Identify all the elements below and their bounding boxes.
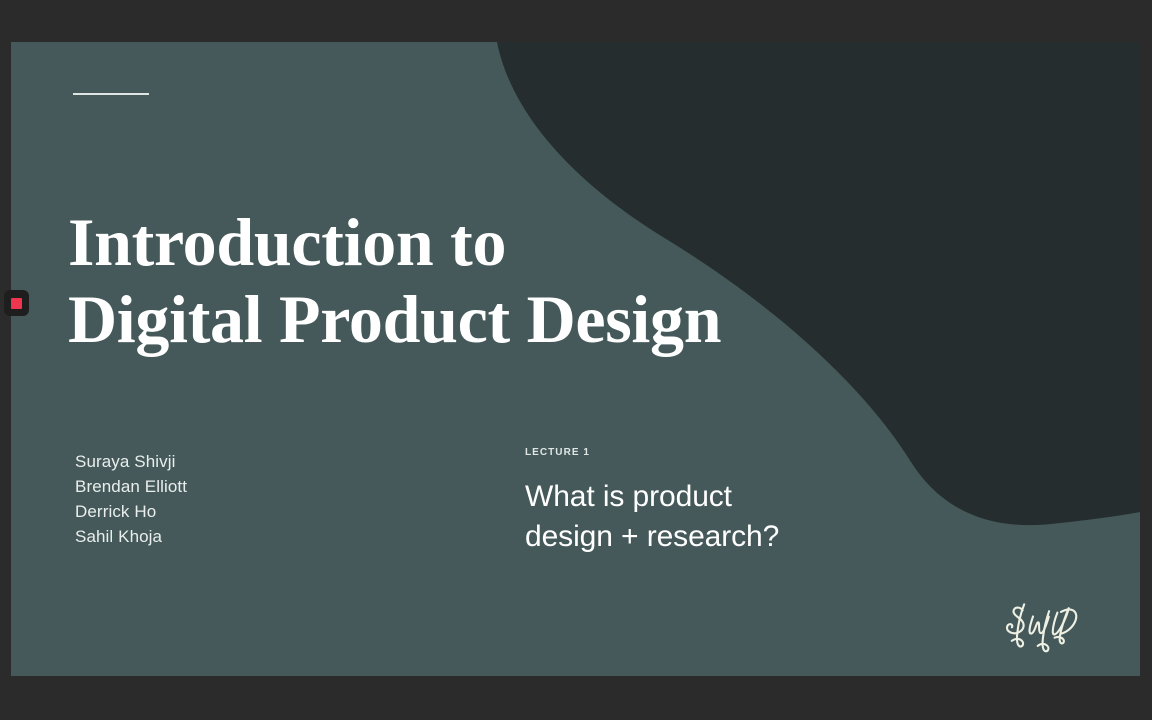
lecture-block: LECTURE 1 What is product design + resea… <box>525 447 855 557</box>
list-item: Derrick Ho <box>75 499 187 524</box>
presentation-viewer: Introduction to Digital Product Design S… <box>0 0 1152 720</box>
slide-title: Introduction to Digital Product Design <box>68 204 868 358</box>
slide-selection-indicator[interactable] <box>4 290 29 316</box>
swd-script-logo-icon <box>999 598 1091 660</box>
color-swatch-icon <box>11 298 22 309</box>
lecture-heading-line-2: design + research? <box>525 517 855 557</box>
slide-title-line-2: Digital Product Design <box>68 281 868 358</box>
accent-rule <box>73 93 149 95</box>
lecture-number-label: LECTURE 1 <box>525 447 855 458</box>
lecture-heading-line-1: What is product <box>525 477 855 517</box>
decorative-wave-shape <box>11 42 1140 676</box>
lecture-heading: What is product design + research? <box>525 477 855 557</box>
list-item: Brendan Elliott <box>75 474 187 499</box>
author-list: Suraya Shivji Brendan Elliott Derrick Ho… <box>75 449 187 549</box>
list-item: Suraya Shivji <box>75 449 187 474</box>
slide-canvas[interactable]: Introduction to Digital Product Design S… <box>11 42 1140 676</box>
slide-title-line-1: Introduction to <box>68 204 868 281</box>
list-item: Sahil Khoja <box>75 524 187 549</box>
